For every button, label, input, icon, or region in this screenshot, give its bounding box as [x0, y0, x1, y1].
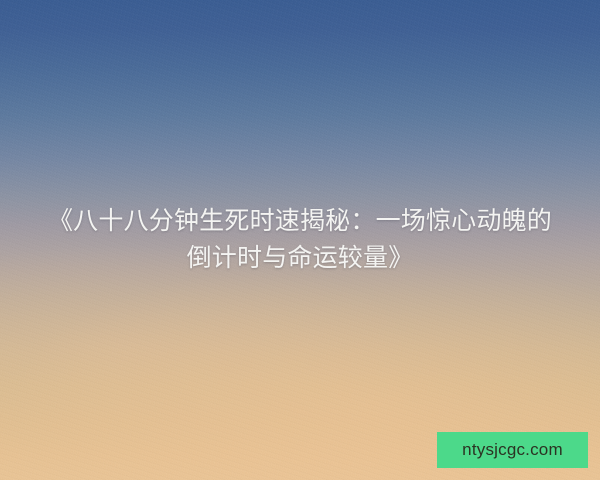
watermark-badge: ntysjcgc.com: [437, 432, 588, 468]
page-title: 《八十八分钟生死时速揭秘：一场惊心动魄的倒计时与命运较量》: [0, 203, 600, 277]
watermark-domain-label: ntysjcgc.com: [462, 440, 563, 460]
cover-image-canvas: 《八十八分钟生死时速揭秘：一场惊心动魄的倒计时与命运较量》 ntysjcgc.c…: [0, 0, 600, 480]
